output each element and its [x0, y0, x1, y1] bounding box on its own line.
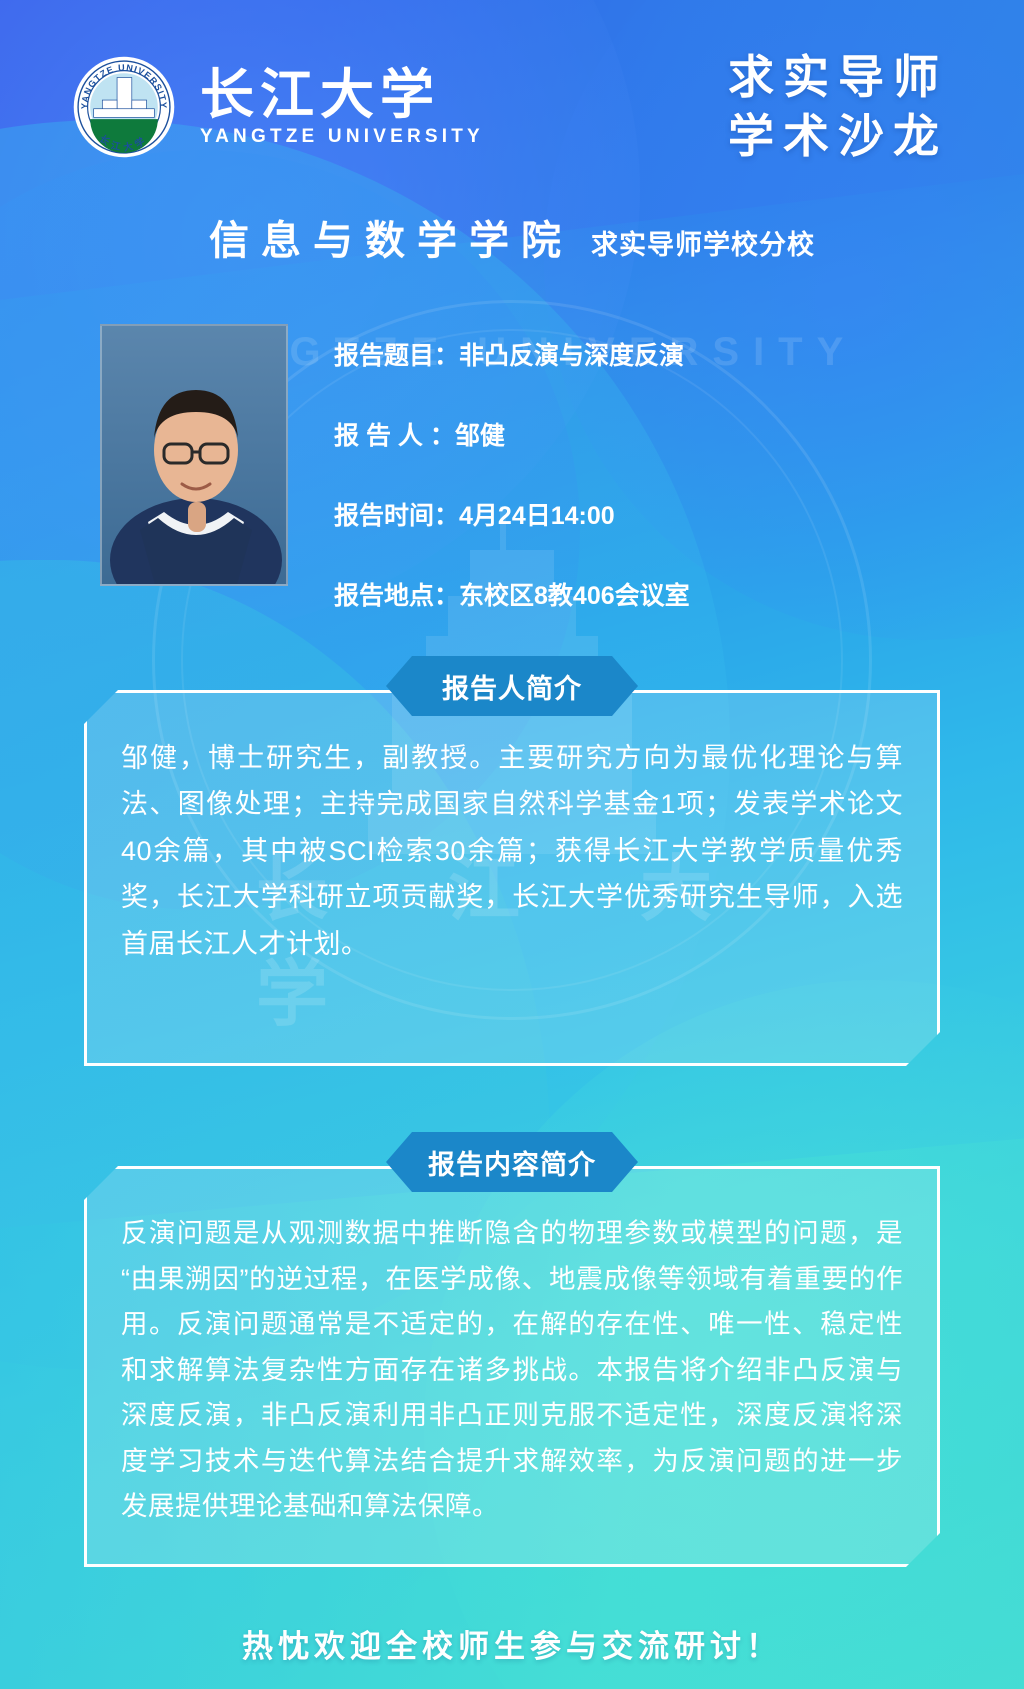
- speaker-bio-card: 邹健，博士研究生，副教授。主要研究方向为最优化理论与算法、图像处理；主持完成国家…: [84, 690, 940, 1066]
- salon-title-group: 求实导师 学术沙龙: [728, 48, 984, 166]
- talk-place-value: 东校区8教406会议室: [459, 582, 690, 610]
- talk-time-row: 报告时间：4月24日14:00: [334, 496, 690, 532]
- speaker-bio-text: 邹健，博士研究生，副教授。主要研究方向为最优化理论与算法、图像处理；主持完成国家…: [121, 735, 903, 967]
- talk-title-row: 报告题目：非凸反演与深度反演: [334, 336, 690, 372]
- abstract-section: 报告内容简介 反演问题是从观测数据中推断隐含的物理参数或模型的问题，是“由果溯因…: [84, 1132, 940, 1567]
- talk-title-value: 非凸反演与深度反演: [459, 342, 684, 370]
- college-name: 信息与数学学院: [209, 208, 573, 266]
- talk-place-label: 报告地点：: [334, 582, 459, 610]
- college-heading: 信息与数学学院 求实导师学校分校: [0, 208, 1024, 266]
- talk-place-row: 报告地点：东校区8教406会议室: [334, 576, 690, 612]
- college-subtitle: 求实导师学校分校: [591, 223, 815, 262]
- speaker-bio-section: 报告人简介 邹健，博士研究生，副教授。主要研究方向为最优化理论与算法、图像处理；…: [84, 656, 940, 1066]
- speaker-portrait: [100, 324, 288, 586]
- poster-footer-text: 热忱欢迎全校师生参与交流研讨！: [0, 1621, 1024, 1666]
- abstract-badge: 报告内容简介: [386, 1132, 638, 1192]
- abstract-text: 反演问题是从观测数据中推断隐含的物理参数或模型的问题，是“由果溯因”的逆过程，在…: [121, 1211, 903, 1530]
- brand-text-group: 长江大学 YANGTZE UNIVERSITY: [200, 66, 484, 149]
- talk-info-block: 报告题目：非凸反演与深度反演 报 告 人 ：邹健 报告时间：4月24日14:00…: [100, 324, 1024, 612]
- talk-speaker-label: 报 告 人 ：: [334, 422, 455, 450]
- speaker-photo-illustration: [102, 326, 288, 586]
- poster-header: YANGTZE UNIVERSITY 长江大学 长江大学 YANGTZE UNI…: [0, 0, 1024, 180]
- abstract-card: 反演问题是从观测数据中推断隐含的物理参数或模型的问题，是“由果溯因”的逆过程，在…: [84, 1166, 940, 1567]
- yangtze-university-emblem-icon: YANGTZE UNIVERSITY 长江大学: [72, 55, 176, 159]
- talk-time-label: 报告时间：: [334, 502, 459, 530]
- brand-logo-group: YANGTZE UNIVERSITY 长江大学 长江大学 YANGTZE UNI…: [72, 55, 484, 159]
- talk-info-lines: 报告题目：非凸反演与深度反演 报 告 人 ：邹健 报告时间：4月24日14:00…: [334, 324, 690, 612]
- talk-speaker-value: 邹健: [455, 422, 505, 450]
- talk-time-value: 4月24日14:00: [459, 502, 615, 530]
- poster-root: YANGTZE UNIVERSITY 长 江 大 学 YANGTZE: [0, 0, 1024, 1689]
- brand-name-en: YANGTZE UNIVERSITY: [200, 126, 484, 148]
- salon-title-line1: 求实导师: [728, 48, 948, 107]
- talk-speaker-row: 报 告 人 ：邹健: [334, 416, 690, 452]
- talk-title-label: 报告题目：: [334, 342, 459, 370]
- speaker-bio-badge: 报告人简介: [386, 656, 638, 716]
- brand-name-cn: 长江大学: [200, 66, 484, 123]
- salon-title-line2: 学术沙龙: [728, 107, 948, 166]
